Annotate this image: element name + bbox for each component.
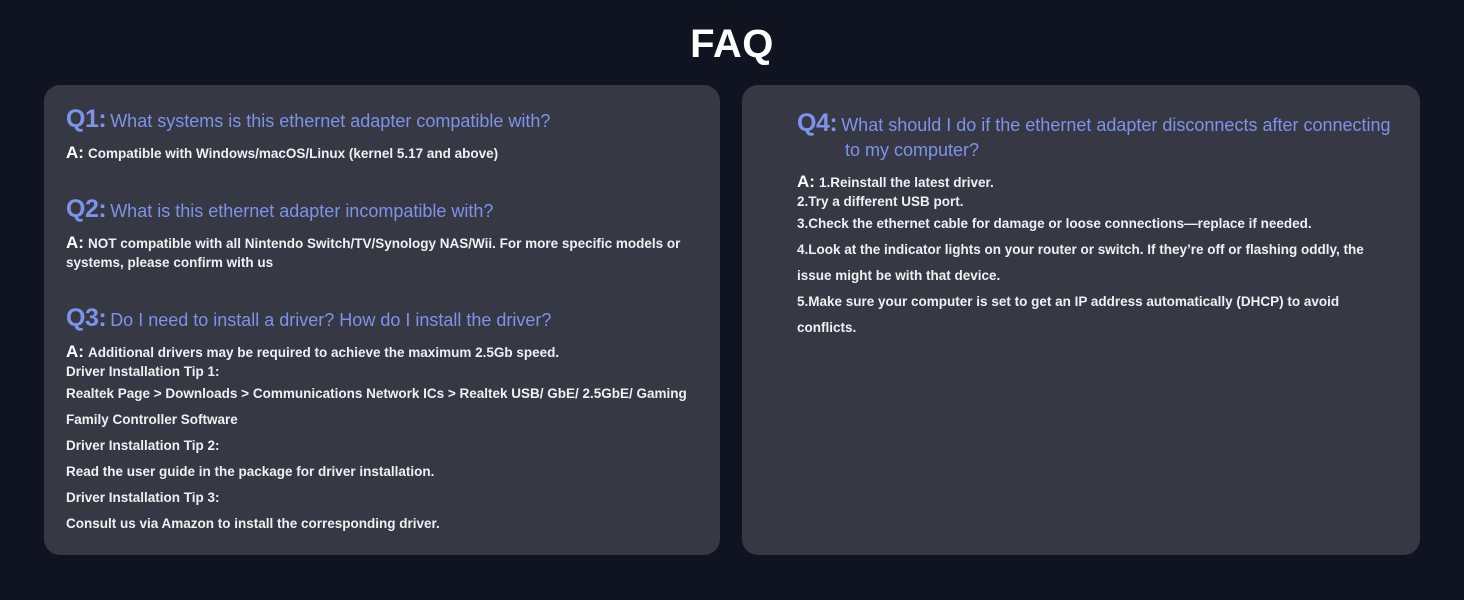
question-text-q1: What systems is this ethernet adapter co… [106, 111, 550, 131]
question-q4: Q4:What should I do if the ethernet adap… [797, 111, 1396, 163]
question-label-q1: Q1: [66, 105, 106, 133]
faq-item-q1: Q1:What systems is this ethernet adapter… [66, 107, 698, 163]
answer-line-tip1-body: Realtek Page > Downloads > Communication… [66, 381, 698, 433]
question-text-q2: What is this ethernet adapter incompatib… [106, 201, 493, 221]
question-text-q3: Do I need to install a driver? How do I … [106, 310, 551, 330]
answer-label-q4: A: [797, 172, 819, 191]
answer-line-tip3-head: Driver Installation Tip 3: [66, 485, 698, 511]
answer-q3: A:Additional drivers may be required to … [66, 342, 698, 362]
answer-q2: A:NOT compatible with all Nintendo Switc… [66, 233, 698, 272]
question-label-q2: Q2: [66, 195, 106, 223]
answer-line-step4: 4.Look at the indicator lights on your r… [797, 237, 1396, 289]
answer-text-q1: Compatible with Windows/macOS/Linux (ker… [88, 146, 498, 161]
answer-text-q2: NOT compatible with all Nintendo Switch/… [66, 236, 680, 270]
question-q2: Q2:What is this ethernet adapter incompa… [66, 197, 698, 224]
answer-line-tip3-body: Consult us via Amazon to install the cor… [66, 511, 698, 537]
answer-label-q3: A: [66, 342, 88, 361]
answer-line-step2: 2.Try a different USB port. [797, 192, 1396, 211]
answer-q4: A:1.Reinstall the latest driver. [797, 172, 1396, 192]
faq-card-left: Q1:What systems is this ethernet adapter… [44, 85, 720, 555]
question-q1: Q1:What systems is this ethernet adapter… [66, 107, 698, 134]
question-label-q3: Q3: [66, 304, 106, 332]
question-q3: Q3:Do I need to install a driver? How do… [66, 306, 698, 333]
answer-label-q2: A: [66, 233, 88, 252]
answer-line-step5: 5.Make sure your computer is set to get … [797, 289, 1396, 341]
faq-item-q3: Q3:Do I need to install a driver? How do… [66, 306, 698, 537]
faq-card-right: Q4:What should I do if the ethernet adap… [742, 85, 1420, 555]
answer-line-tip2-head: Driver Installation Tip 2: [66, 433, 698, 459]
answer-line-tip2-body: Read the user guide in the package for d… [66, 459, 698, 485]
block-spacer [66, 163, 698, 197]
question-text-q4: What should I do if the ethernet adapter… [837, 115, 1390, 160]
faq-page: FAQ Q1:What systems is this ethernet ada… [0, 0, 1464, 600]
answer-text-q4-first: 1.Reinstall the latest driver. [819, 175, 994, 190]
answer-line-step3: 3.Check the ethernet cable for damage or… [797, 211, 1396, 237]
answer-label-q1: A: [66, 143, 88, 162]
faq-item-q4: Q4:What should I do if the ethernet adap… [797, 111, 1396, 341]
block-spacer [66, 272, 698, 306]
answer-text-q3-first: Additional drivers may be required to ac… [88, 345, 559, 360]
answer-line-tip1-head: Driver Installation Tip 1: [66, 362, 698, 381]
page-title: FAQ [0, 18, 1464, 70]
faq-item-q2: Q2:What is this ethernet adapter incompa… [66, 197, 698, 272]
question-label-q4: Q4: [797, 109, 837, 137]
answer-q1: A:Compatible with Windows/macOS/Linux (k… [66, 143, 698, 163]
